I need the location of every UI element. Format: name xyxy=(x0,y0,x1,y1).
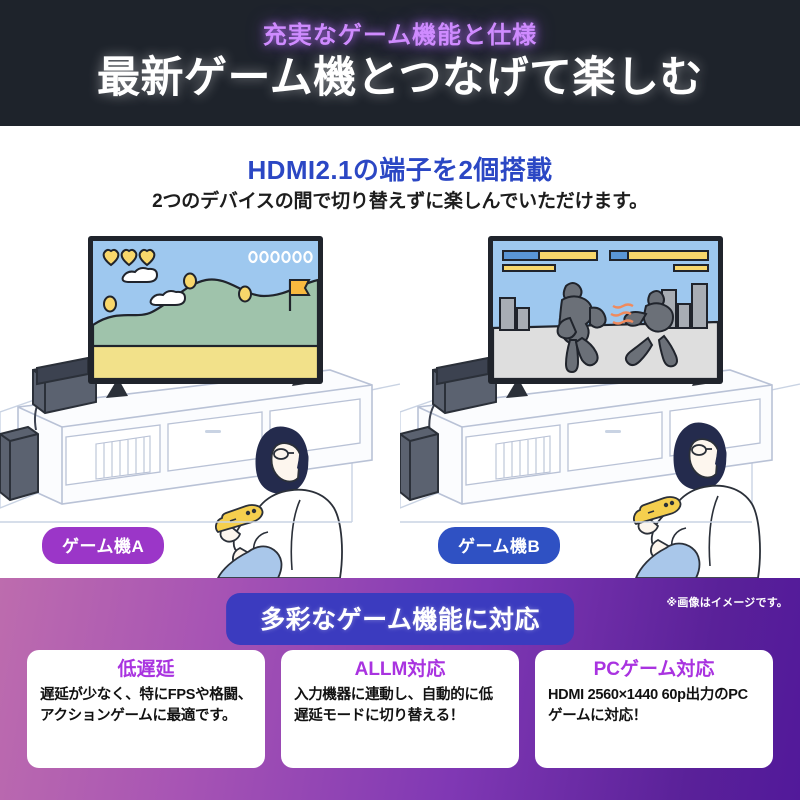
feature-card-title: ALLM対応 xyxy=(294,659,506,682)
feature-card-title: PCゲーム対応 xyxy=(548,659,760,682)
scenes-row: ゲーム機A xyxy=(0,222,800,578)
scene-game-console-a: ゲーム機A xyxy=(0,222,400,578)
feature-card-allm: ALLM対応 入力機器に連動し、自動的に低遅延モードに切り替える！ xyxy=(281,650,519,768)
game-screen-platformer xyxy=(93,241,318,379)
middle-subheading: 2つのデバイスの間で切り替えずに楽しんでいただけます。 xyxy=(0,186,800,213)
badge-game-console-a: ゲーム機A xyxy=(42,527,164,564)
bottom-banner-title: 多彩なゲーム機能に対応 xyxy=(226,593,574,645)
illustration-platformer-room xyxy=(0,222,400,578)
middle-section: HDMI2.1の端子を2個搭載 2つのデバイスの間で切り替えずに楽しんでいただけ… xyxy=(0,126,800,578)
scene-game-console-b: ゲーム機B xyxy=(400,222,800,578)
illustration-fighting-room xyxy=(400,222,800,578)
feature-card-body: 遅延が少なく、特にFPSや格闘、アクションゲームに最適です。 xyxy=(40,685,252,727)
header-banner: 充実なゲーム機能と仕様 最新ゲーム機とつなげて楽しむ xyxy=(0,0,800,126)
game-console-dock xyxy=(33,358,96,413)
middle-heading: HDMI2.1の端子を2個搭載 xyxy=(0,150,800,187)
television-a xyxy=(88,236,323,398)
game-console-dock xyxy=(433,358,496,413)
feature-card-body: HDMI 2560×1440 60p出力のPCゲームに対応！ xyxy=(548,685,760,727)
feature-cards-row: 低遅延 遅延が少なく、特にFPSや格闘、アクションゲームに最適です。 ALLM対… xyxy=(0,650,800,768)
header-title: 最新ゲーム機とつなげて楽しむ xyxy=(97,53,703,104)
image-disclaimer-note: ※画像はイメージです。 xyxy=(666,594,788,610)
feature-card-title: 低遅延 xyxy=(40,659,252,682)
product-feature-graphic: 充実なゲーム機能と仕様 最新ゲーム機とつなげて楽しむ HDMI2.1の端子を2個… xyxy=(0,0,800,800)
bottom-section: 多彩なゲーム機能に対応 ※画像はイメージです。 低遅延 遅延が少なく、特にFPS… xyxy=(0,578,800,800)
game-console-floor xyxy=(0,427,38,500)
game-screen-fighting xyxy=(493,241,718,379)
badge-game-console-b: ゲーム機B xyxy=(438,527,560,564)
television-b xyxy=(488,236,723,398)
header-eyebrow: 充実なゲーム機能と仕様 xyxy=(263,22,537,50)
feature-card-body: 入力機器に連動し、自動的に低遅延モードに切り替える！ xyxy=(294,685,506,727)
feature-card-pc-gaming: PCゲーム対応 HDMI 2560×1440 60p出力のPCゲームに対応！ xyxy=(535,650,773,768)
heart-icon xyxy=(104,250,155,265)
feature-card-low-latency: 低遅延 遅延が少なく、特にFPSや格闘、アクションゲームに最適です。 xyxy=(27,650,265,768)
game-console-floor xyxy=(400,427,438,500)
